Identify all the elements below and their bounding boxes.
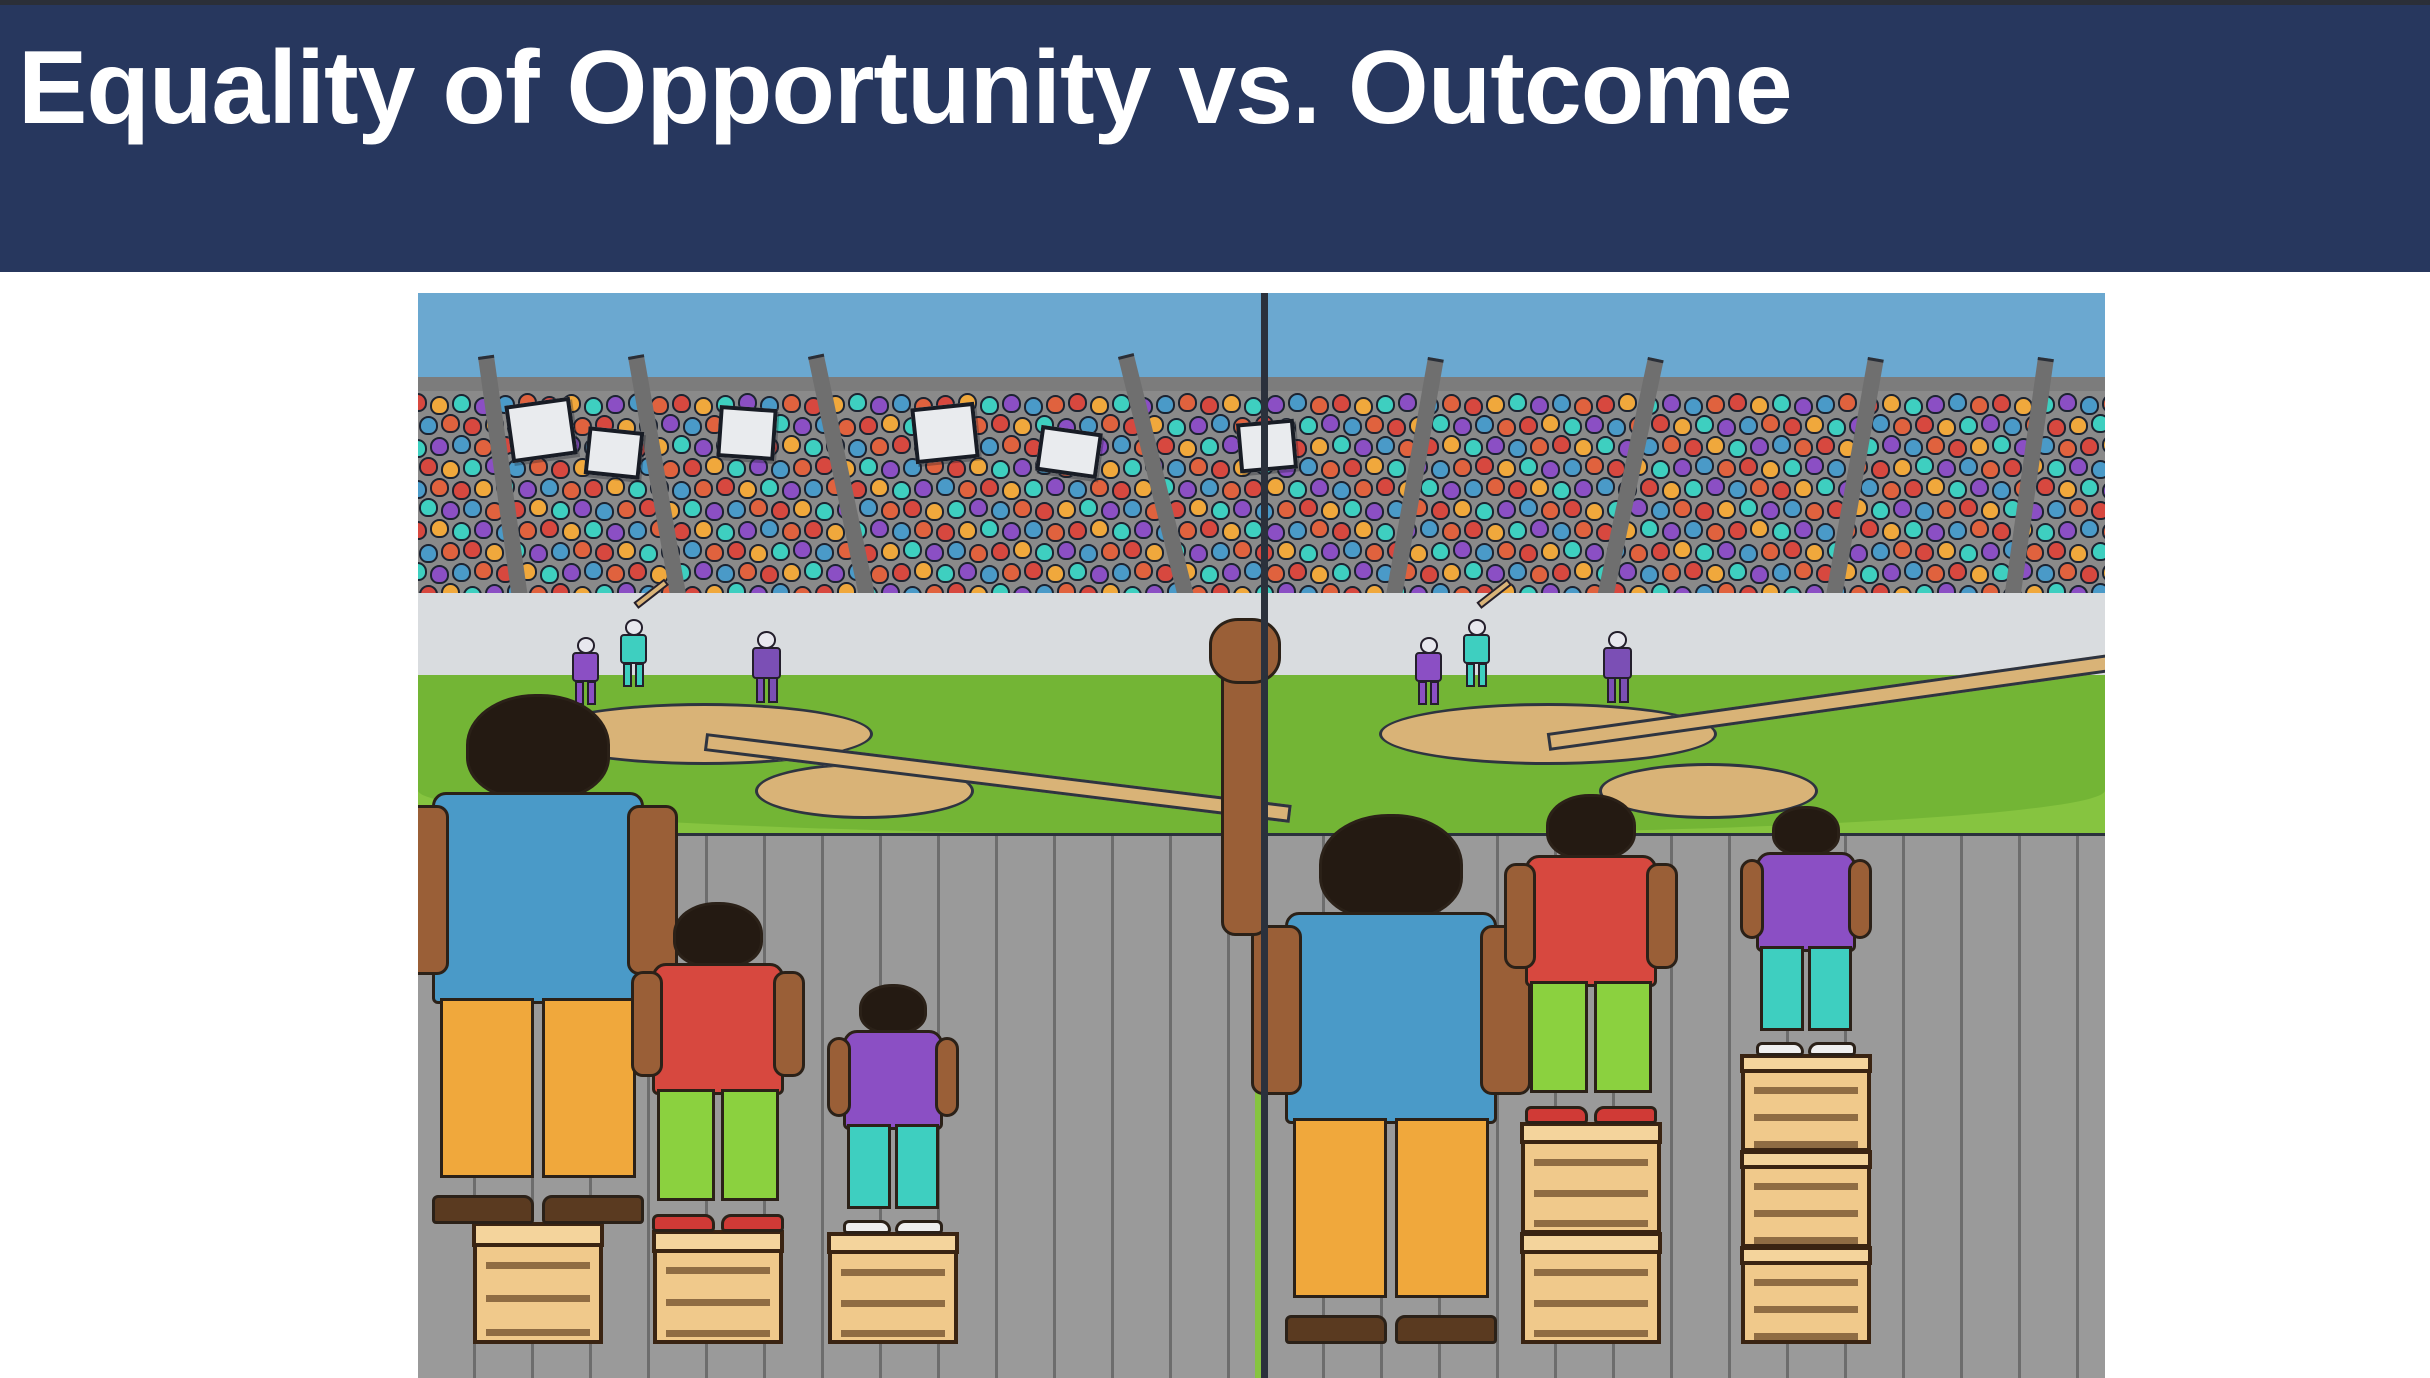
panel-divider xyxy=(1261,293,1268,1378)
crowd-person xyxy=(463,540,482,559)
crowd-person xyxy=(1299,416,1318,435)
crowd-person xyxy=(1398,393,1417,412)
crowd-person xyxy=(2091,501,2105,520)
crowd-person xyxy=(1915,502,1934,521)
crowd-person xyxy=(1222,481,1241,500)
crowd-person xyxy=(1959,544,1978,563)
crowd-person xyxy=(925,543,944,562)
crowd-person xyxy=(1068,562,1087,581)
crowd-person xyxy=(452,563,471,582)
crowd-person xyxy=(1332,435,1351,454)
crowd-person xyxy=(881,501,900,520)
crowd-person xyxy=(969,457,988,476)
crowd-person xyxy=(2069,544,2088,563)
crowd-person xyxy=(1354,520,1373,539)
crowd-person xyxy=(529,544,548,563)
crowd-person xyxy=(1904,438,1923,457)
crowd-person xyxy=(980,437,999,456)
crowd-person xyxy=(1530,478,1549,497)
crate-stack-right-short-child xyxy=(1741,1056,1871,1344)
crowd-person xyxy=(815,543,834,562)
crowd-person xyxy=(1816,436,1835,455)
crowd-person xyxy=(2003,417,2022,436)
spectator-right-tall-adult xyxy=(1285,814,1497,1344)
crowd-person xyxy=(518,521,537,540)
crowd-person xyxy=(1387,459,1406,478)
crowd-person xyxy=(1948,562,1967,581)
crowd-person xyxy=(914,479,933,498)
crowd-person xyxy=(1442,481,1461,500)
crowd-person xyxy=(1552,435,1571,454)
crowd-person xyxy=(1200,396,1219,415)
crowd-person xyxy=(1277,500,1296,519)
crowd-person xyxy=(936,477,955,496)
fence-plank xyxy=(1673,836,1731,1378)
crowd-person xyxy=(1552,563,1571,582)
crowd-person xyxy=(1002,394,1021,413)
crowd-person xyxy=(1750,565,1769,584)
catcher-right xyxy=(1409,637,1448,706)
fence-plank xyxy=(2079,836,2105,1378)
crowd-person xyxy=(1607,418,1626,437)
crowd-person xyxy=(1365,415,1384,434)
crowd-person xyxy=(1992,522,2011,541)
crowd-person xyxy=(1200,565,1219,584)
crowd-person xyxy=(1970,478,1989,497)
crowd-person xyxy=(1783,417,1802,436)
crowd-person xyxy=(1915,415,1934,434)
crowd-person xyxy=(727,541,746,560)
crowd-person xyxy=(1761,460,1780,479)
crowd-person xyxy=(782,563,801,582)
crowd-person xyxy=(727,459,746,478)
crate-lip-top xyxy=(1740,1054,1872,1073)
crowd-person xyxy=(892,481,911,500)
arm-right xyxy=(773,971,805,1077)
crowd-person xyxy=(1453,540,1472,559)
crowd-person xyxy=(683,458,702,477)
crowd-person xyxy=(1266,523,1285,542)
crowd-person xyxy=(1464,479,1483,498)
crowd-person xyxy=(991,501,1010,520)
crowd-person xyxy=(1882,481,1901,500)
crowd-person xyxy=(1783,499,1802,518)
crowd-person xyxy=(1750,437,1769,456)
crowd-person xyxy=(980,565,999,584)
crowd-person xyxy=(441,501,460,520)
crowd-person xyxy=(1112,435,1131,454)
crowd-person xyxy=(1739,544,1758,563)
crowd-person xyxy=(573,540,592,559)
crowd-person xyxy=(1728,439,1747,458)
crowd-person xyxy=(1200,437,1219,456)
crowd-person xyxy=(430,437,449,456)
crowd-person xyxy=(1574,479,1593,498)
crowd-person xyxy=(705,502,724,521)
crowd-person xyxy=(1926,564,1945,583)
crowd-person xyxy=(2047,500,2066,519)
crowd-person xyxy=(782,394,801,413)
crate-slat xyxy=(1534,1300,1648,1307)
crowd-person xyxy=(1552,522,1571,541)
crowd-person xyxy=(1563,458,1582,477)
crowd-person xyxy=(1508,480,1527,499)
arm-left xyxy=(1251,925,1302,1095)
crowd-person xyxy=(430,478,449,497)
crowd-person xyxy=(418,393,427,412)
crowd-sign xyxy=(1035,425,1103,479)
fence-plank xyxy=(1905,836,1963,1378)
crowd-person xyxy=(1640,478,1659,497)
crowd-person xyxy=(595,543,614,562)
crowd-person xyxy=(1750,478,1769,497)
crowd-person xyxy=(683,417,702,436)
crowd-person xyxy=(1497,418,1516,437)
crowd-person xyxy=(1585,415,1604,434)
crowd-person xyxy=(1178,521,1197,540)
head-hair xyxy=(466,694,610,800)
crowd-person xyxy=(1728,562,1747,581)
crowd-person xyxy=(1849,544,1868,563)
crate-lip-top xyxy=(652,1230,784,1253)
player-leg-left xyxy=(756,677,766,703)
head-hair xyxy=(1319,814,1463,920)
crowd-person xyxy=(2058,393,2077,412)
crowd-person xyxy=(1024,479,1043,498)
crowd-person xyxy=(474,520,493,539)
crate-stack-left-medium-child xyxy=(653,1232,783,1344)
crowd-person xyxy=(1002,481,1021,500)
crowd-person xyxy=(1332,522,1351,541)
crowd-person xyxy=(562,481,581,500)
crate xyxy=(828,1234,958,1344)
crowd-person xyxy=(1717,541,1736,560)
crowd-person xyxy=(452,394,471,413)
crowd-person xyxy=(1827,459,1846,478)
crowd-person xyxy=(815,502,834,521)
crowd-person xyxy=(1827,418,1846,437)
crowd-person xyxy=(551,501,570,520)
crowd-person xyxy=(947,459,966,478)
crowd-person xyxy=(1222,394,1241,413)
crowd-person xyxy=(925,502,944,521)
crowd-person xyxy=(418,439,427,458)
crowd-person xyxy=(1002,563,1021,582)
crowd-person xyxy=(419,498,438,517)
crowd-person xyxy=(1596,477,1615,496)
crowd-person xyxy=(804,561,823,580)
crowd-person xyxy=(1013,499,1032,518)
crowd-person xyxy=(1717,500,1736,519)
arm-right xyxy=(935,1037,959,1117)
crowd-person xyxy=(1574,561,1593,580)
crate-slat xyxy=(1534,1330,1648,1337)
pitcher-left xyxy=(746,631,788,705)
crowd-person xyxy=(1200,478,1219,497)
crowd-person xyxy=(1717,418,1736,437)
arm-left xyxy=(827,1037,851,1117)
crate-lip-top xyxy=(472,1222,604,1247)
crowd-person xyxy=(1904,479,1923,498)
crowd-person xyxy=(1431,460,1450,479)
crowd-person xyxy=(1871,542,1890,561)
crowd-person xyxy=(1343,417,1362,436)
crowd-person xyxy=(1178,393,1197,412)
crowd-person xyxy=(1178,439,1197,458)
crowd-person xyxy=(1596,436,1615,455)
crowd-person xyxy=(969,544,988,563)
crowd-person xyxy=(870,519,889,538)
crowd-person xyxy=(1882,435,1901,454)
player-leg-left xyxy=(623,663,632,687)
pants-leg-right xyxy=(1594,981,1652,1093)
crowd-person xyxy=(418,562,427,581)
crate xyxy=(1741,1248,1871,1344)
fence-plank xyxy=(998,836,1056,1378)
crate xyxy=(1741,1152,1871,1248)
spectator-left-medium-child xyxy=(652,902,784,1232)
crowd-person xyxy=(1981,414,2000,433)
fence-plank xyxy=(2021,836,2079,1378)
shoe-right xyxy=(721,1214,784,1232)
crowd-person xyxy=(1915,456,1934,475)
crowd-person xyxy=(1519,416,1538,435)
crowd-person xyxy=(672,394,691,413)
crowd-person xyxy=(1772,435,1791,454)
crowd-person xyxy=(1728,480,1747,499)
crowd-person xyxy=(1464,520,1483,539)
crowd-person xyxy=(749,544,768,563)
shoe-right xyxy=(542,1195,644,1224)
arm-right xyxy=(1848,859,1872,939)
crowd-person xyxy=(1453,417,1472,436)
crowd-person xyxy=(2102,522,2105,541)
crowd-person xyxy=(1541,460,1560,479)
crowd-person xyxy=(1618,393,1637,412)
crowd-person xyxy=(1354,397,1373,416)
raised-fist-icon xyxy=(1209,618,1281,684)
crowd-person xyxy=(1486,523,1505,542)
crowd-person xyxy=(2069,416,2088,435)
head-hair xyxy=(859,984,927,1034)
crowd-person xyxy=(2036,477,2055,496)
crate-slat xyxy=(1754,1183,1859,1190)
crowd-person xyxy=(1640,565,1659,584)
crowd-person xyxy=(1948,521,1967,540)
crowd-person xyxy=(1717,459,1736,478)
crowd-person xyxy=(991,414,1010,433)
crowd-person xyxy=(1409,544,1428,563)
crowd-person xyxy=(1640,519,1659,538)
crowd-person xyxy=(606,564,625,583)
pants-leg-right xyxy=(721,1089,779,1201)
crowd-person xyxy=(1959,416,1978,435)
crowd-person xyxy=(1068,521,1087,540)
crowd-person xyxy=(1288,521,1307,540)
crowd-person xyxy=(1530,519,1549,538)
crowd-person xyxy=(1486,395,1505,414)
crate-lip-top xyxy=(1520,1232,1663,1254)
crowd-person xyxy=(1464,438,1483,457)
crowd-person xyxy=(1354,438,1373,457)
shirt xyxy=(843,1030,943,1130)
crowd-person xyxy=(1024,561,1043,580)
crowd-person xyxy=(1156,395,1175,414)
crowd-person xyxy=(1508,439,1527,458)
crowd-person xyxy=(1464,397,1483,416)
crowd-person xyxy=(1299,544,1318,563)
crowd-person xyxy=(1156,436,1175,455)
crowd-person xyxy=(485,543,504,562)
crowd-person xyxy=(1904,561,1923,580)
crate-slat xyxy=(1754,1333,1859,1340)
crowd-person xyxy=(1915,543,1934,562)
crowd-person xyxy=(1728,521,1747,540)
crowd-person xyxy=(1112,563,1131,582)
crowd-person xyxy=(958,521,977,540)
crowd-person xyxy=(1772,563,1791,582)
crowd-person xyxy=(683,499,702,518)
crate-slat xyxy=(486,1262,591,1269)
crowd-person xyxy=(1442,563,1461,582)
crowd-person xyxy=(1706,436,1725,455)
crate-slat xyxy=(1534,1159,1648,1166)
crowd-person xyxy=(1794,520,1813,539)
crowd-person xyxy=(804,479,823,498)
crowd-person xyxy=(705,543,724,562)
crowd-person xyxy=(452,435,471,454)
crowd-person xyxy=(1310,478,1329,497)
crowd-person xyxy=(892,394,911,413)
crowd-person xyxy=(914,561,933,580)
crowd-person xyxy=(1651,414,1670,433)
crowd-sign xyxy=(584,426,645,480)
crowd-person xyxy=(694,397,713,416)
crowd-person xyxy=(1035,543,1054,562)
pants-leg-right xyxy=(542,998,635,1178)
crowd-person xyxy=(1343,499,1362,518)
crowd-person xyxy=(1189,498,1208,517)
crowd-person xyxy=(1585,502,1604,521)
shirt xyxy=(1756,852,1856,952)
crowd-person xyxy=(958,480,977,499)
crowd-person xyxy=(1574,397,1593,416)
crowd-person xyxy=(1442,435,1461,454)
crowd-person xyxy=(716,477,735,496)
crowd-person xyxy=(1508,562,1527,581)
crowd-person xyxy=(1321,542,1340,561)
crowd-person xyxy=(1068,393,1087,412)
crowd-person xyxy=(1926,477,1945,496)
crowd-person xyxy=(584,397,603,416)
crowd-sign xyxy=(716,405,777,461)
crowd-person xyxy=(430,519,449,538)
crowd-person xyxy=(1090,396,1109,415)
crowd-person xyxy=(1530,565,1549,584)
crowd-person xyxy=(2058,521,2077,540)
crowd-person xyxy=(606,523,625,542)
crowd-person xyxy=(859,498,878,517)
crowd-person xyxy=(716,564,735,583)
crowd-person xyxy=(1552,394,1571,413)
crowd-person xyxy=(1816,395,1835,414)
stadium-scene xyxy=(418,293,2105,1378)
crate-slat xyxy=(841,1300,946,1307)
crowd-person xyxy=(870,565,889,584)
crowd-person xyxy=(1442,522,1461,541)
crowd-person xyxy=(2003,458,2022,477)
player-leg-left xyxy=(1466,663,1475,687)
crowd-person xyxy=(595,502,614,521)
crowd-person xyxy=(1189,416,1208,435)
crowd-person xyxy=(1134,561,1153,580)
crowd-person xyxy=(1970,565,1989,584)
crowd-person xyxy=(1948,480,1967,499)
crowd-person xyxy=(1662,563,1681,582)
crowd-person xyxy=(1662,394,1681,413)
crowd-person xyxy=(1574,520,1593,539)
crowd-person xyxy=(1937,459,1956,478)
crowd-person xyxy=(1288,562,1307,581)
crate xyxy=(653,1232,783,1344)
crowd-person xyxy=(463,499,482,518)
crowd-person xyxy=(1772,522,1791,541)
crowd-person xyxy=(2091,460,2105,479)
player-leg-left xyxy=(1418,681,1427,705)
crowd-person xyxy=(1420,478,1439,497)
crowd-person xyxy=(1893,417,1912,436)
crowd-person xyxy=(1871,460,1890,479)
crowd-person xyxy=(749,498,768,517)
shoe-left xyxy=(652,1214,715,1232)
crowd-person xyxy=(1376,436,1395,455)
crowd-person xyxy=(760,478,779,497)
crate-slat xyxy=(1754,1087,1859,1094)
crowd-person xyxy=(1706,395,1725,414)
crowd-person xyxy=(2058,480,2077,499)
crowd-person xyxy=(771,460,790,479)
crowd-person xyxy=(2069,498,2088,517)
crowd-person xyxy=(1552,481,1571,500)
crowd-person xyxy=(738,521,757,540)
crowd-person xyxy=(529,498,548,517)
shoe-right xyxy=(1395,1315,1497,1344)
crowd-person xyxy=(584,561,603,580)
crowd-person xyxy=(419,457,438,476)
crowd-person xyxy=(1684,479,1703,498)
crowd-person xyxy=(1090,478,1109,497)
crowd-person xyxy=(1508,521,1527,540)
crowd-person xyxy=(870,437,889,456)
crowd-person xyxy=(1519,544,1538,563)
crowd-person xyxy=(1134,520,1153,539)
crowd-person xyxy=(1805,415,1824,434)
player-leg-right xyxy=(1430,681,1439,705)
player-torso xyxy=(1603,647,1632,679)
crowd-person xyxy=(2069,457,2088,476)
crowd-person xyxy=(1805,543,1824,562)
crowd-person xyxy=(1431,542,1450,561)
crate-stack-left-short-child xyxy=(828,1234,958,1344)
crowd-person xyxy=(705,456,724,475)
crowd-person xyxy=(1376,523,1395,542)
crate-slat xyxy=(841,1330,946,1337)
crowd-person xyxy=(1563,499,1582,518)
crowd-person xyxy=(859,457,878,476)
crowd-person xyxy=(617,500,636,519)
crate xyxy=(473,1224,603,1344)
crowd-person xyxy=(991,542,1010,561)
